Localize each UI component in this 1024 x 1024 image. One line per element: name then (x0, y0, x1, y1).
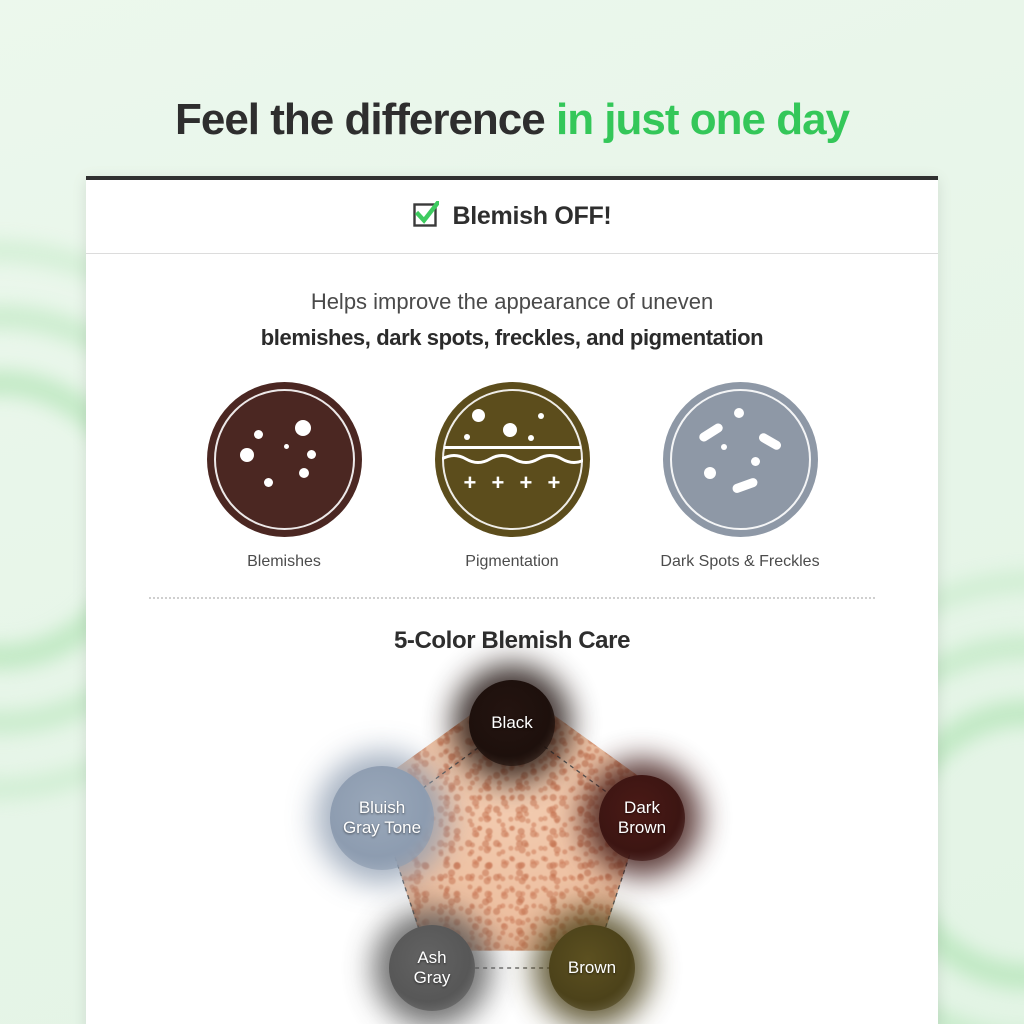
content-card: Blemish OFF! Helps improve the appearanc… (86, 176, 938, 1024)
color-node-dark-brown[interactable]: Dark Brown (599, 775, 685, 861)
headline-part-dark: Feel the difference (175, 95, 545, 144)
dark-spots-circle-icon (663, 382, 818, 537)
palette-section-title: 5-Color Blemish Care (86, 627, 938, 655)
color-node-brown[interactable]: Brown (549, 925, 635, 1011)
wavy-line-icon (442, 450, 583, 466)
card-header: Blemish OFF! (86, 180, 938, 254)
page-headline: Feel the difference in just one day (0, 0, 1024, 144)
concern-item-blemishes: Blemishes (189, 382, 379, 571)
concern-label-pigmentation: Pigmentation (417, 553, 607, 571)
headline-part-accent: in just one day (556, 95, 849, 144)
concern-label-blemishes: Blemishes (189, 553, 379, 571)
color-node-bluish-gray-tone[interactable]: Bluish Gray Tone (330, 766, 434, 870)
color-node-ash-gray[interactable]: Ash Gray (389, 925, 475, 1011)
section-divider (149, 597, 875, 599)
color-node-black[interactable]: Black (469, 680, 555, 766)
concern-item-dark-spots: Dark Spots & Freckles (645, 382, 835, 571)
intro-line-2: blemishes, dark spots, freckles, and pig… (86, 322, 938, 354)
blemish-circle-icon (207, 382, 362, 537)
blemish-inner-ring (214, 389, 355, 530)
concern-item-pigmentation: + + + + Pigmentation (417, 382, 607, 571)
concern-label-dark-spots: Dark Spots & Freckles (645, 553, 835, 571)
intro-block: Helps improve the appearance of uneven b… (86, 254, 938, 354)
pigmentation-circle-icon: + + + + (435, 382, 590, 537)
concern-icon-row: Blemishes + + + + Pigmentation (86, 382, 938, 571)
card-title: Blemish OFF! (453, 202, 612, 231)
intro-line-1: Helps improve the appearance of uneven (86, 286, 938, 318)
five-color-pentagon-diagram: Black Dark Brown Brown Ash Gray Bluish G… (312, 663, 712, 1024)
checkbox-checked-icon (413, 201, 439, 232)
